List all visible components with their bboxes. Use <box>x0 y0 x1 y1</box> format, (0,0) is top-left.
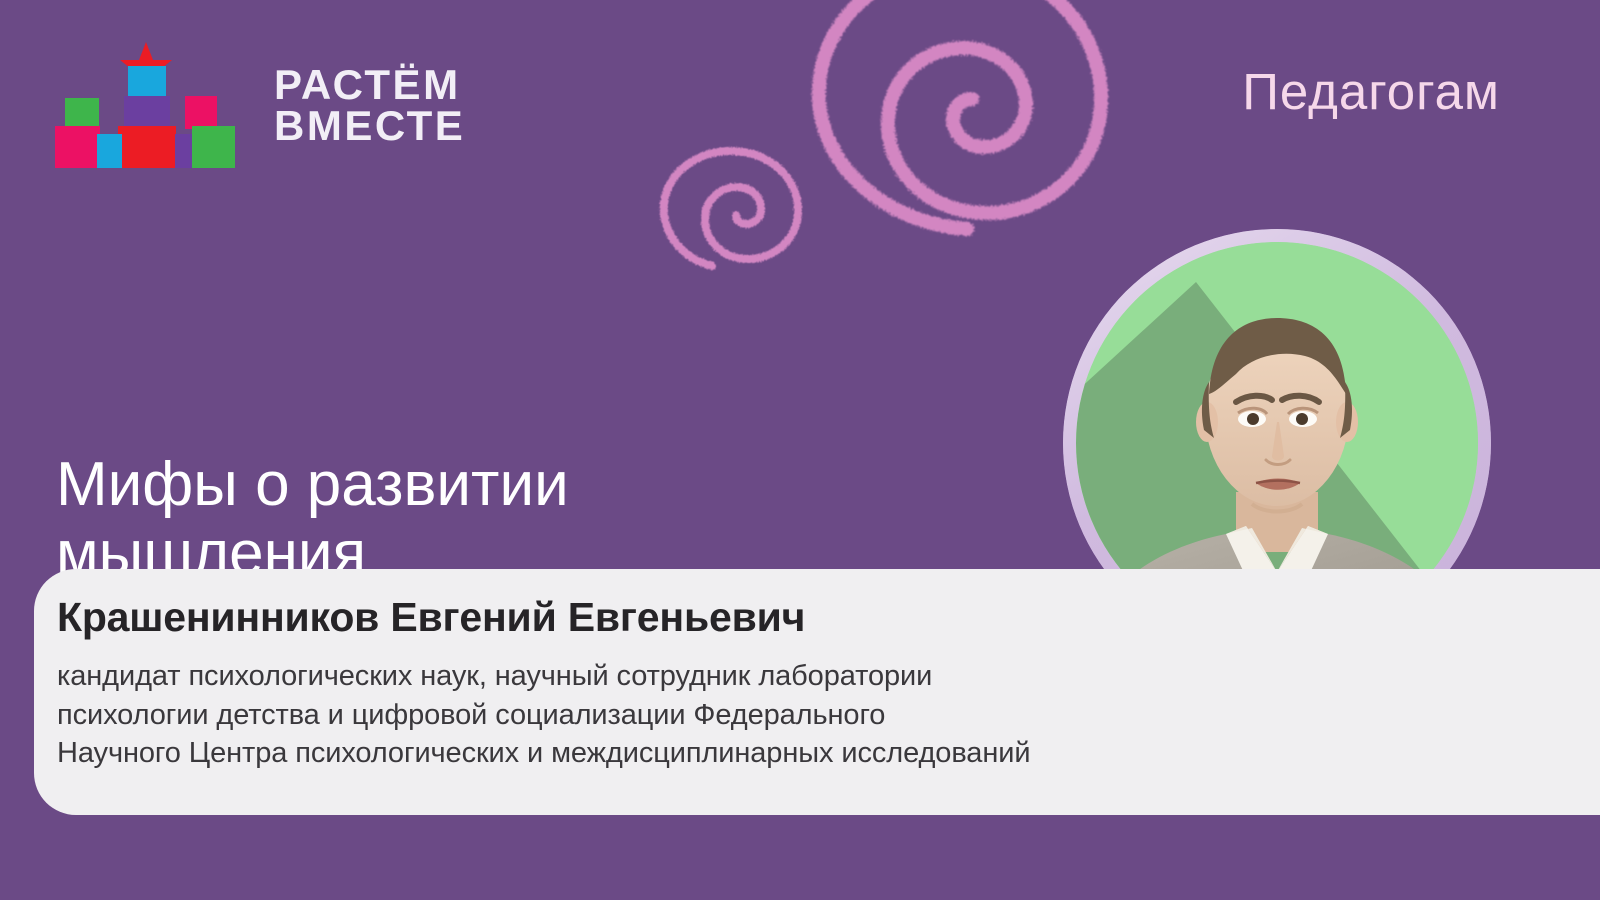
brand-wordmark: РАСТЁМ ВМЕСТЕ <box>274 64 465 146</box>
building-blocks-with-star-icon <box>52 38 237 168</box>
presentation-slide: РАСТЁМ ВМЕСТЕ Педагогам Мифы о развитии … <box>0 0 1600 900</box>
speaker-name: Крашенинников Евгений Евгеньевич <box>57 597 805 638</box>
spiral-doodle-large-icon <box>640 0 1180 270</box>
spiral-doodle-small-icon <box>650 138 820 278</box>
brand-logo[interactable]: РАСТЁМ ВМЕСТЕ <box>52 38 432 168</box>
page-title: Мифы о развитии мышления <box>56 450 756 589</box>
speaker-bio-line3: Научного Центра психологических и междис… <box>57 734 1457 773</box>
audience-label: Педагогам <box>1242 66 1500 117</box>
speaker-bio: кандидат психологических наук, научный с… <box>57 657 1457 773</box>
speaker-bio-line1: кандидат психологических наук, научный с… <box>57 657 1457 696</box>
speaker-info-card: Крашенинников Евгений Евгеньевич кандида… <box>34 569 1600 815</box>
brand-wordmark-line2: ВМЕСТЕ <box>274 105 465 146</box>
speaker-bio-line2: психологии детства и цифровой социализац… <box>57 696 1457 735</box>
brand-wordmark-line1: РАСТЁМ <box>274 61 461 108</box>
page-title-line1: Мифы о развитии <box>56 450 569 519</box>
